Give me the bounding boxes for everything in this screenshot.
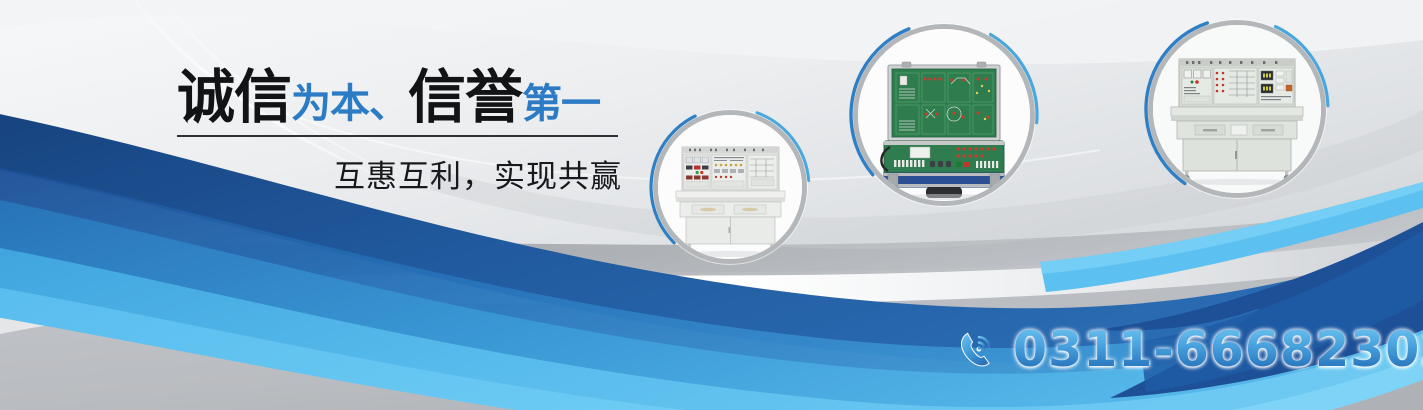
photo-inner <box>858 29 1030 201</box>
photo-inner <box>658 115 802 259</box>
headline-segment-1: 诚信 <box>177 63 291 131</box>
headline-segment-3: 信誉 <box>408 63 522 131</box>
product-photo-electrical-training-workbench-2[interactable] <box>1148 20 1326 198</box>
product-photo-portable-electronics-training-case[interactable] <box>853 24 1035 206</box>
product-photo-electrical-training-workbench-1[interactable] <box>653 110 807 264</box>
page-title: 诚信为本、信誉第一 <box>177 68 622 127</box>
headline-divider <box>177 135 618 137</box>
headline-segment-2: 为本、 <box>291 81 408 127</box>
training-case-illustration <box>858 29 1030 201</box>
headline-segment-4: 第一 <box>522 81 600 127</box>
photo-inner <box>1153 25 1321 193</box>
promo-banner: 诚信为本、信誉第一 互惠互利，实现共赢 <box>0 0 1423 410</box>
workbench2-illustration <box>1153 25 1321 193</box>
phone-call-icon <box>955 328 999 372</box>
page-subtitle: 互惠互利，实现共赢 <box>177 151 622 196</box>
contact-phone-block[interactable]: 0311-66682303 <box>955 325 1423 374</box>
phone-number[interactable]: 0311-66682303 <box>1013 325 1423 374</box>
workbench-illustration <box>658 115 802 259</box>
headline-block: 诚信为本、信誉第一 互惠互利，实现共赢 <box>177 68 622 196</box>
